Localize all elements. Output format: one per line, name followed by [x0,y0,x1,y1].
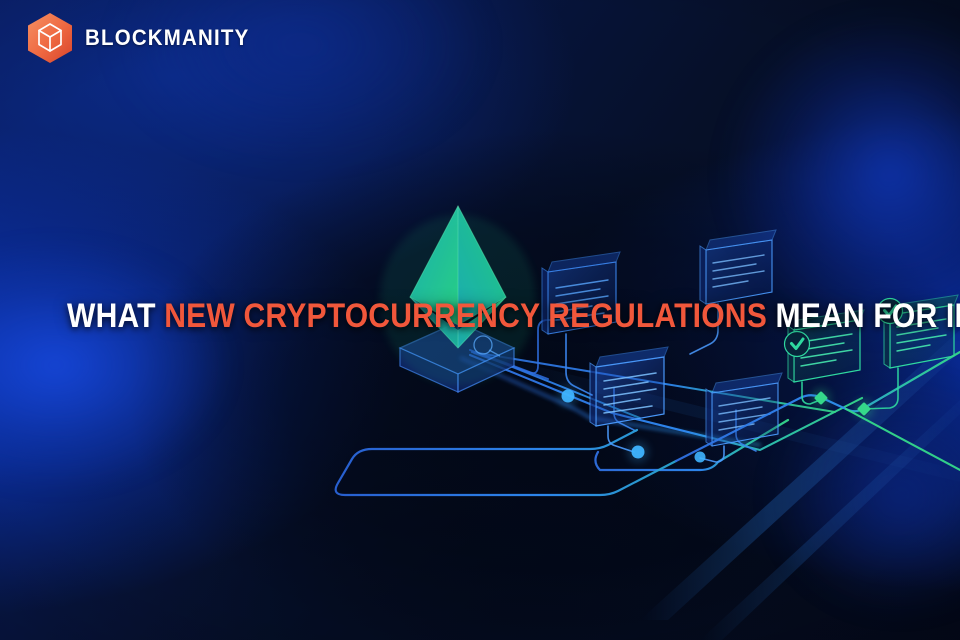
banner-canvas: BLOCKMANITY WHAT NEW CRYPTOCURRENCY REGU… [0,0,960,640]
headline-lead: WHAT [67,297,164,335]
page-title: WHAT NEW CRYPTOCURRENCY REGULATIONS MEAN… [67,299,960,333]
headline-tail: MEAN FOR INVESTORS [767,297,960,335]
brand-name: BLOCKMANITY [85,25,249,51]
hexagon-cube-icon [26,12,74,64]
brand-logo[interactable]: BLOCKMANITY [26,12,262,64]
headline-highlight: NEW CRYPTOCURRENCY REGULATIONS [164,297,767,335]
